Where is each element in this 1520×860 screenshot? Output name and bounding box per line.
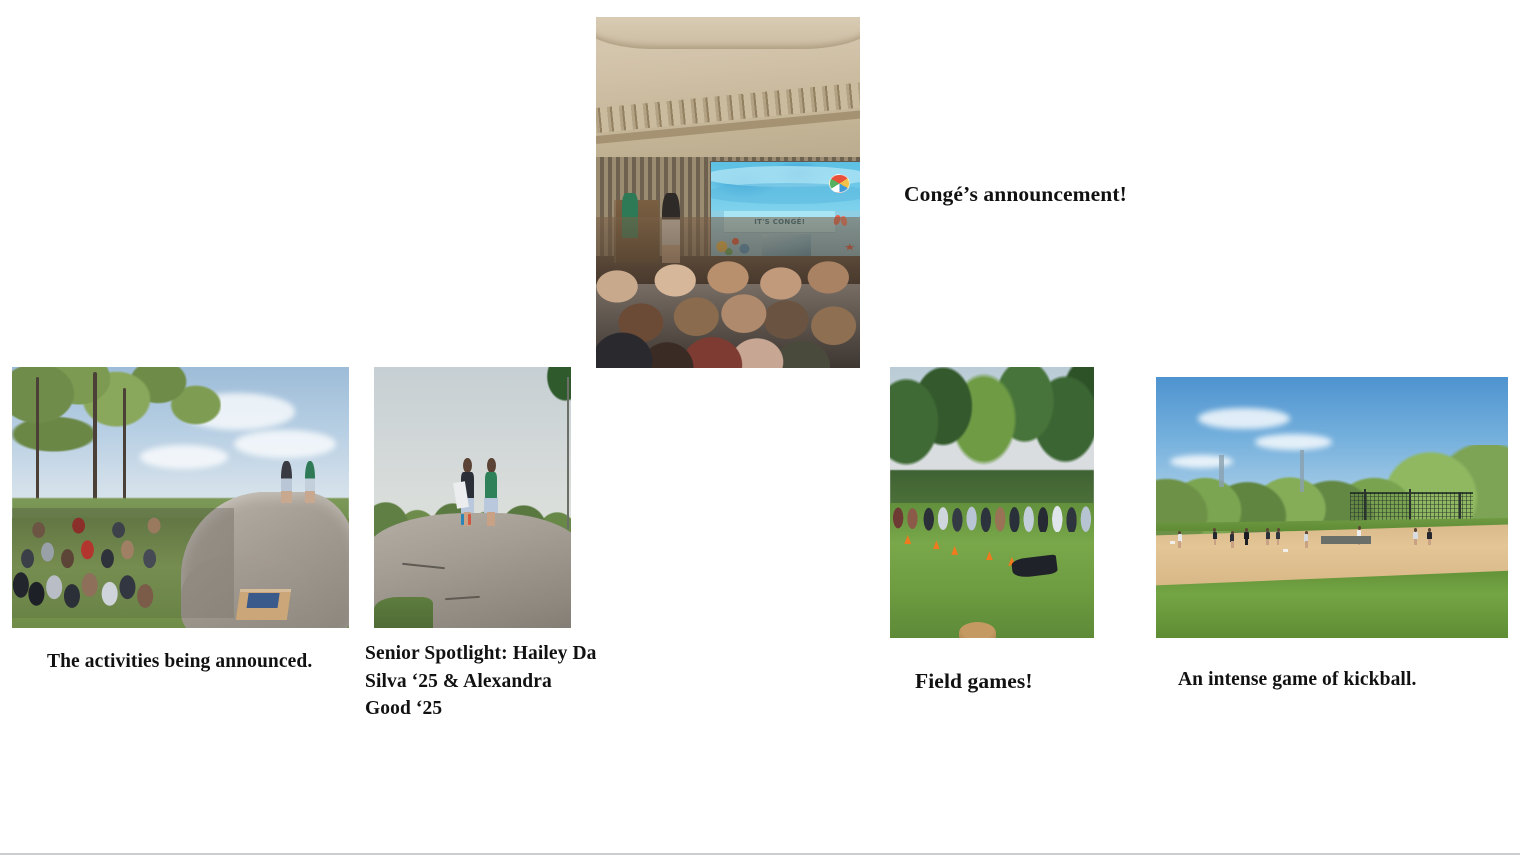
student-line xyxy=(890,500,1094,533)
conge-announcement-photo[interactable]: IT'S CONGÉ! xyxy=(596,17,860,368)
kickball-photo[interactable] xyxy=(1156,377,1508,638)
student-on-rock-2 xyxy=(305,461,316,503)
caption-activities-announced: The activities being announced. xyxy=(47,648,327,676)
water-bottle-2 xyxy=(468,514,472,524)
legs xyxy=(1305,541,1308,548)
caption-kickball: An intense game of kickball. xyxy=(1178,666,1428,694)
foreground-head xyxy=(959,622,996,638)
skirt xyxy=(484,498,498,513)
distant-building-2 xyxy=(1300,450,1304,492)
player-9 xyxy=(1427,528,1432,545)
ceiling-arch xyxy=(596,17,860,49)
base-1 xyxy=(1170,541,1175,544)
caption-field-games: Field games! xyxy=(915,666,1033,697)
kickball-scene xyxy=(1156,377,1508,638)
player-8 xyxy=(1413,528,1418,545)
field-games-photo[interactable] xyxy=(890,367,1094,638)
legs xyxy=(1214,539,1217,546)
player-3 xyxy=(1230,531,1235,548)
senior-spotlight-photo[interactable] xyxy=(374,367,571,628)
slide-bottom-divider xyxy=(0,853,1520,855)
lawn-scene xyxy=(12,367,349,628)
distant-building-1 xyxy=(1219,455,1224,486)
senior-alexandra-good xyxy=(484,458,498,526)
legs xyxy=(1266,539,1269,546)
seated-crowd xyxy=(12,508,234,618)
player-4 xyxy=(1244,528,1249,545)
cardboard-box xyxy=(236,589,291,620)
legs xyxy=(1231,541,1234,548)
caption-senior-spotlight: Senior Spotlight: Hailey Da Silva ‘25 & … xyxy=(365,640,600,723)
cloud-2 xyxy=(234,430,335,459)
legs xyxy=(1428,539,1431,546)
sideline-bench xyxy=(1321,536,1370,544)
auditorium-scene: IT'S CONGÉ! xyxy=(596,17,860,368)
legs xyxy=(1414,539,1417,546)
tree-branch xyxy=(567,377,569,528)
tree-trunk-2 xyxy=(93,372,97,513)
student-on-rock-1 xyxy=(281,461,292,503)
water-bottle-1 xyxy=(461,514,465,524)
slide-canvas: IT'S CONGÉ! Congé’s announcement! xyxy=(0,0,1520,853)
legs xyxy=(1277,539,1280,546)
caption-conge-announcement: Congé’s announcement! xyxy=(904,179,1127,210)
tree-canopy xyxy=(12,367,221,513)
torso xyxy=(485,472,497,499)
player-7 xyxy=(1304,531,1309,548)
cloud-1 xyxy=(1198,408,1290,429)
player-1 xyxy=(1177,531,1182,548)
player-6 xyxy=(1276,528,1281,545)
tree-trunk-3 xyxy=(123,388,126,513)
rock-scene xyxy=(374,367,571,628)
player-2 xyxy=(1212,528,1217,545)
legs xyxy=(1245,539,1248,546)
tree-trunk-1 xyxy=(36,377,39,513)
field-scene xyxy=(890,367,1094,638)
activities-announced-photo[interactable] xyxy=(12,367,349,628)
seated-audience xyxy=(596,217,860,368)
grass-patch xyxy=(374,597,433,628)
legs xyxy=(1178,541,1181,548)
base-2 xyxy=(1283,549,1288,552)
box-contents xyxy=(246,593,279,607)
player-5 xyxy=(1265,528,1270,545)
legs xyxy=(487,512,495,526)
